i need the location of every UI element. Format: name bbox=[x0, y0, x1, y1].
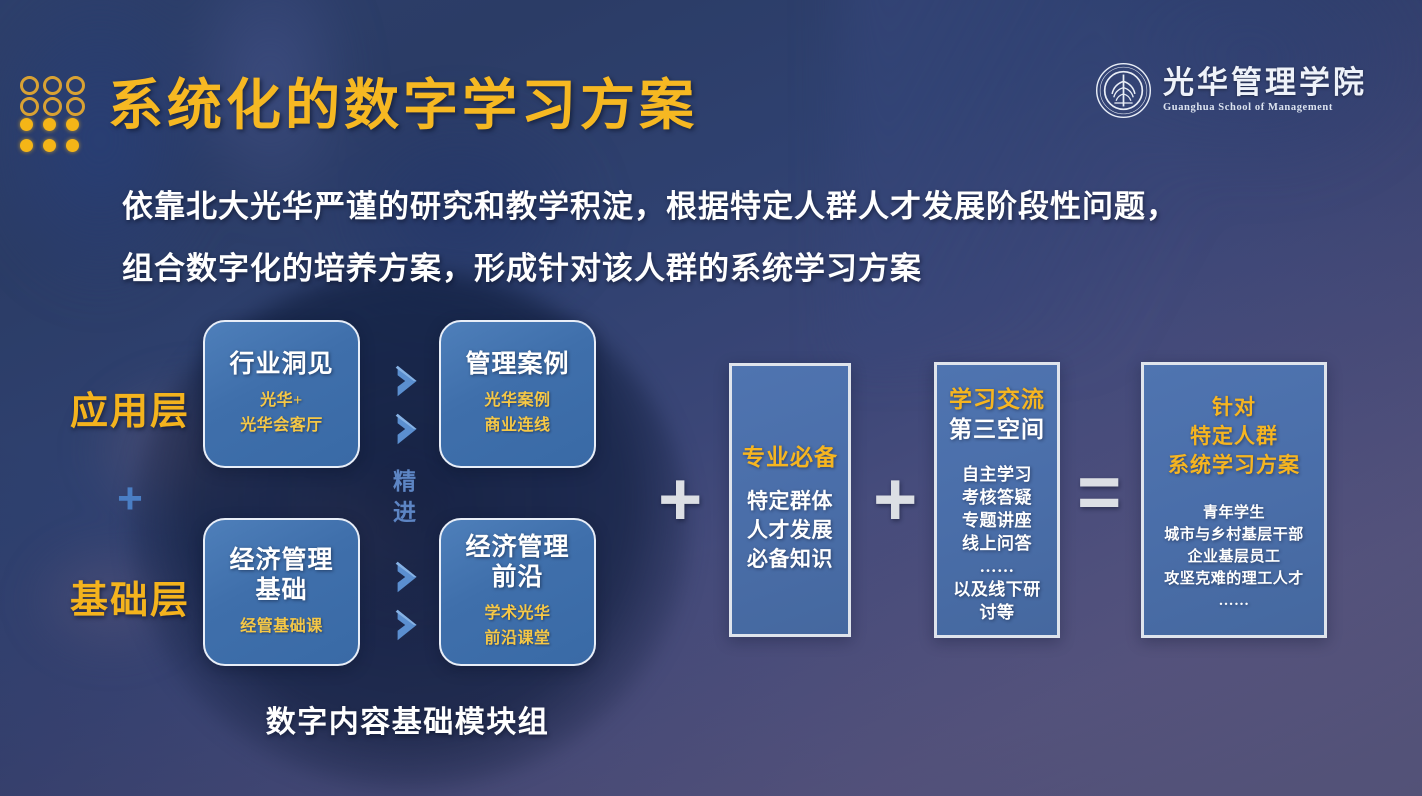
layer-label-application: 应用层 bbox=[50, 380, 210, 435]
plus-operator-1: + bbox=[658, 462, 702, 538]
chevron-right-icon bbox=[390, 606, 428, 644]
chevron-right-icon bbox=[390, 558, 428, 596]
chevron-right-icon bbox=[390, 410, 428, 448]
dot-icon bbox=[66, 118, 79, 131]
equals-operator: = bbox=[1077, 455, 1121, 531]
panel-subtitle: 第三空间 bbox=[949, 415, 1045, 445]
chevron-arrow-group-top bbox=[387, 362, 431, 448]
module-card-industry-insight[interactable]: 行业洞见 光华+光华会客厅 bbox=[203, 320, 360, 468]
panel-professional-essentials[interactable]: 专业必备 特定群体人才发展必备知识 bbox=[729, 363, 851, 637]
logo-chinese-name: 光华管理学院 bbox=[1163, 67, 1367, 98]
dot-icon bbox=[20, 76, 39, 95]
logo-english-name: Guanghua School of Management bbox=[1163, 103, 1367, 114]
module-card-subtitle: 学术光华前沿课堂 bbox=[484, 601, 550, 651]
chevron-arrow-group-bottom bbox=[387, 558, 431, 644]
module-card-title: 经济管理前沿 bbox=[465, 533, 569, 593]
module-card-subtitle: 光华+光华会客厅 bbox=[240, 388, 323, 438]
subtitle-line-1: 依靠北大光华严谨的研究和教学积淀，根据特定人群人才发展阶段性问题， bbox=[122, 176, 1352, 238]
module-card-subtitle: 经管基础课 bbox=[240, 614, 323, 639]
module-card-title: 管理案例 bbox=[465, 350, 569, 380]
subtitle-line-2: 组合数字化的培养方案，形成针对该人群的系统学习方案 bbox=[122, 238, 1352, 300]
slide-root: 系统化的数字学习方案 光华管理学院 Guanghua School of Man… bbox=[0, 0, 1422, 796]
decorative-dot-grid bbox=[20, 76, 80, 154]
module-card-econ-management-basics[interactable]: 经济管理基础 经管基础课 bbox=[203, 518, 360, 666]
dot-icon bbox=[66, 139, 79, 152]
panel-title: 专业必备 bbox=[742, 443, 838, 473]
module-card-title: 行业洞见 bbox=[229, 350, 333, 380]
dot-icon bbox=[43, 76, 62, 95]
plus-operator-2: + bbox=[873, 462, 917, 538]
panel-learning-exchange[interactable]: 学习交流 第三空间 自主学习考核答疑专题讲座线上问答……以及线下研讨等 bbox=[934, 362, 1060, 638]
dot-icon bbox=[43, 118, 56, 131]
dot-icon bbox=[20, 139, 33, 152]
module-group-caption: 数字内容基础模块组 bbox=[205, 697, 610, 741]
dot-icon bbox=[20, 118, 33, 131]
subtitle-paragraph: 依靠北大光华严谨的研究和教学积淀，根据特定人群人才发展阶段性问题， 组合数字化的… bbox=[122, 176, 1352, 300]
panel-body: 青年学生城市与乡村基层干部企业基层员工攻坚克难的理工人才…… bbox=[1164, 502, 1304, 612]
dot-icon bbox=[66, 76, 85, 95]
panel-title: 针对特定人群系统学习方案 bbox=[1168, 393, 1300, 480]
dot-icon bbox=[43, 97, 62, 116]
panel-title: 学习交流 bbox=[949, 385, 1045, 415]
module-card-subtitle: 光华案例商业连线 bbox=[484, 388, 550, 438]
pku-seal-icon bbox=[1095, 62, 1152, 119]
layer-label-column: 应用层 + 基础层 bbox=[50, 380, 210, 624]
dot-icon bbox=[66, 97, 85, 116]
module-card-management-case[interactable]: 管理案例 光华案例商业连线 bbox=[439, 320, 596, 468]
page-title: 系统化的数字学习方案 bbox=[108, 60, 698, 140]
panel-body: 特定群体人才发展必备知识 bbox=[747, 487, 833, 574]
layer-plus-operator: + bbox=[50, 477, 210, 521]
chevron-right-icon bbox=[390, 362, 428, 400]
logo-text-block: 光华管理学院 Guanghua School of Management bbox=[1163, 67, 1367, 114]
dot-icon bbox=[20, 97, 39, 116]
refine-vertical-label: 精进 bbox=[387, 466, 423, 528]
module-card-econ-management-frontier[interactable]: 经济管理前沿 学术光华前沿课堂 bbox=[439, 518, 596, 666]
panel-targeted-system-plan[interactable]: 针对特定人群系统学习方案 青年学生城市与乡村基层干部企业基层员工攻坚克难的理工人… bbox=[1141, 362, 1327, 638]
layer-label-foundation: 基础层 bbox=[50, 569, 210, 624]
panel-body: 自主学习考核答疑专题讲座线上问答……以及线下研讨等 bbox=[953, 463, 1041, 624]
module-card-title: 经济管理基础 bbox=[229, 546, 333, 606]
organization-logo: 光华管理学院 Guanghua School of Management bbox=[1095, 62, 1367, 119]
dot-icon bbox=[43, 139, 56, 152]
